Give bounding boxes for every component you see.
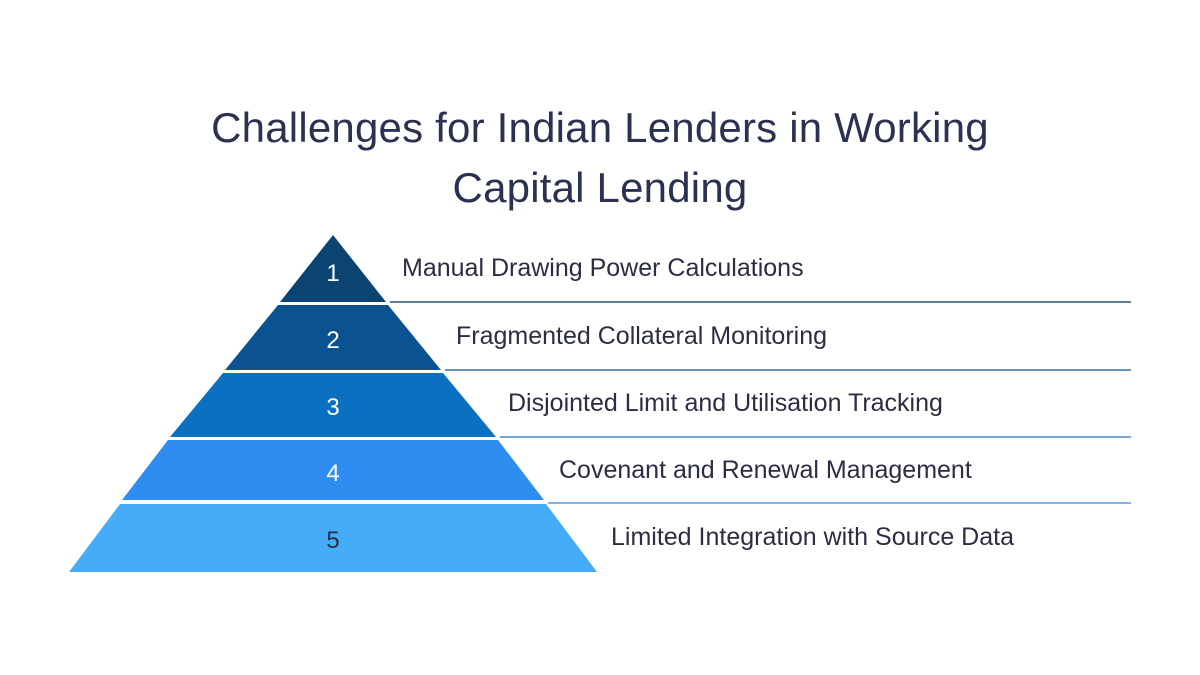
pyramid-level-1-label: Manual Drawing Power Calculations [402, 256, 804, 281]
pyramid-level-3-label: Disjointed Limit and Utilisation Trackin… [508, 391, 943, 416]
page-title: Challenges for Indian Lenders in Working… [150, 98, 1050, 217]
pyramid-level-2-label: Fragmented Collateral Monitoring [456, 324, 827, 349]
slide-canvas: Challenges for Indian Lenders in Working… [0, 0, 1200, 675]
pyramid-level-2-number: 2 [313, 329, 353, 353]
pyramid-level-3-number: 3 [313, 396, 353, 420]
pyramid-level-4-label: Covenant and Renewal Management [559, 458, 972, 483]
pyramid-level-1-number: 1 [313, 262, 353, 286]
pyramid-level-4-number: 4 [313, 462, 353, 486]
pyramid-level-5-label: Limited Integration with Source Data [611, 525, 1014, 550]
pyramid-level-5-number: 5 [313, 529, 353, 553]
